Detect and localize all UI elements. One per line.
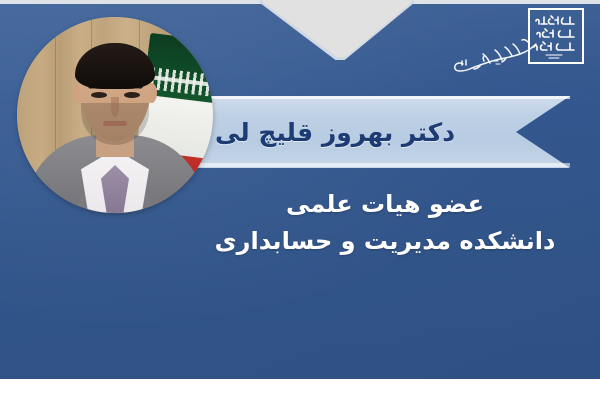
portrait-eye-left xyxy=(91,92,107,98)
bottom-white-area xyxy=(0,379,600,400)
faculty-role-label: عضو هیات علمی xyxy=(190,186,580,222)
logo-mark-calligraphy xyxy=(520,8,586,66)
university-logo-icon xyxy=(520,8,586,66)
portrait-nose xyxy=(111,97,119,117)
faculty-profile-banner: دکتر بهروز قلیچ لی عضو هیات علمی دانشکده… xyxy=(0,0,600,400)
avatar xyxy=(17,17,213,213)
portrait-eye-right xyxy=(124,92,140,98)
faculty-department-label: دانشکده مدیریت و حسابداری xyxy=(190,222,580,260)
portrait-mouth xyxy=(103,121,127,126)
faculty-subtitle-block: عضو هیات علمی دانشکده مدیریت و حسابداری xyxy=(190,186,580,260)
